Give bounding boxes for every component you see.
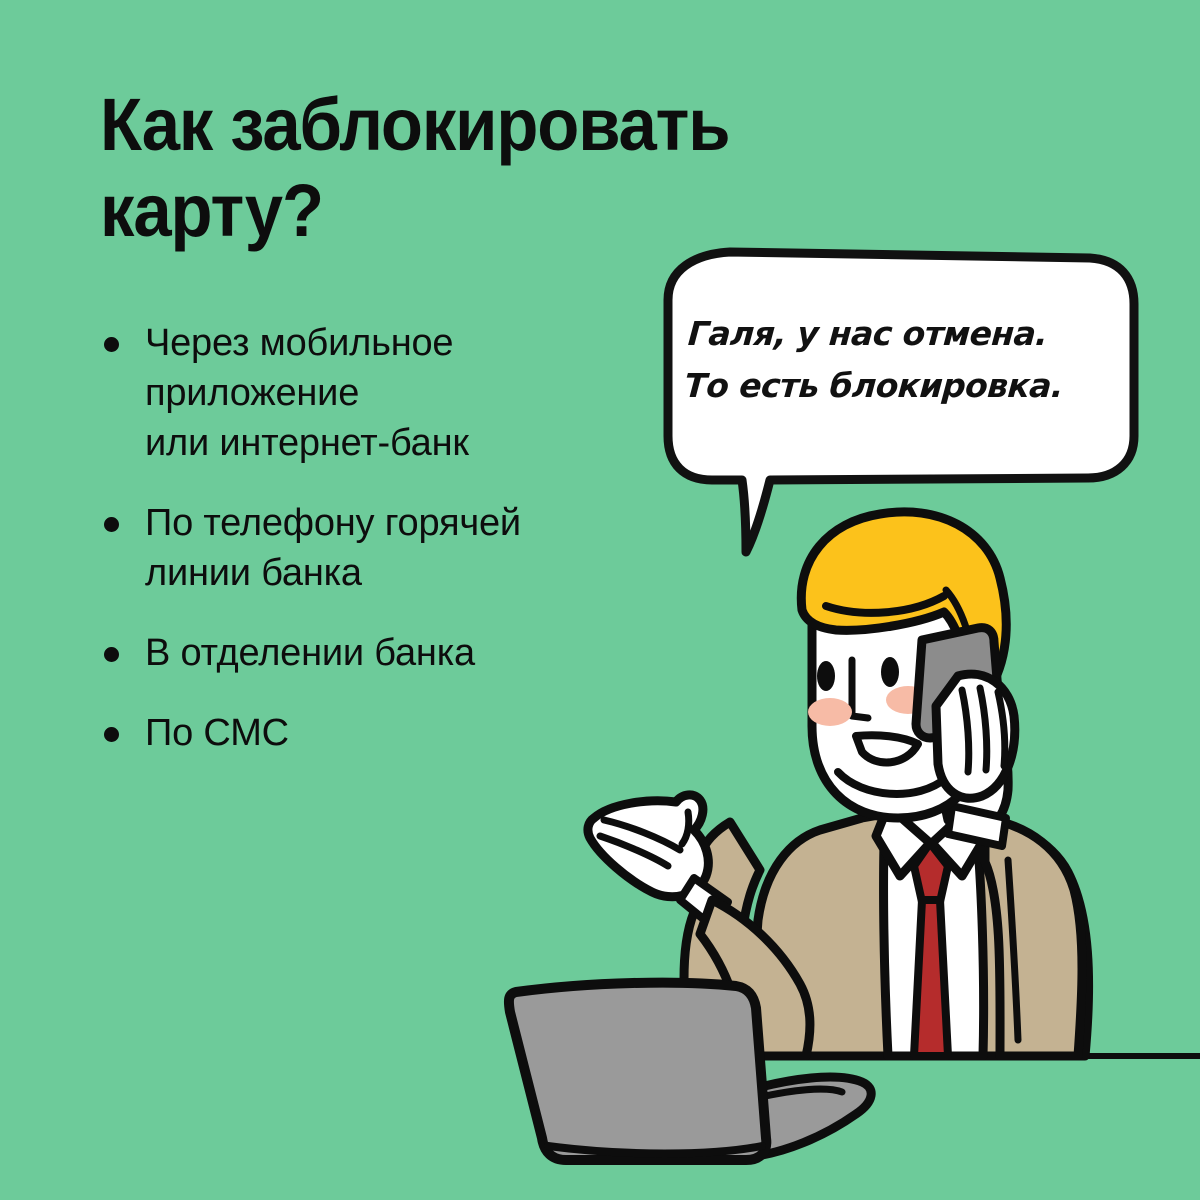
list-item: Через мобильное приложение или интернет-…: [104, 318, 664, 468]
list-item: По телефону горячей линии банка: [104, 498, 664, 598]
list-item-label: В отделении банка: [145, 628, 475, 678]
page-title: Как заблокировать карту?: [100, 82, 863, 254]
list-item-label: По СМС: [145, 708, 289, 758]
list-item-label: По телефону горячей линии банка: [145, 498, 521, 598]
speech-bubble: Галя, у нас отмена. То есть блокировка.: [650, 240, 1150, 570]
list-item-label: Через мобильное приложение или интернет-…: [145, 318, 469, 468]
bullet-dot-icon: [104, 517, 119, 532]
bullet-dot-icon: [104, 647, 119, 662]
bullet-dot-icon: [104, 337, 119, 352]
speech-bubble-text: Галя, у нас отмена. То есть блокировка.: [683, 308, 1120, 412]
poster-canvas: Как заблокировать карту? Через мобильное…: [0, 0, 1200, 1200]
method-list: Через мобильное приложение или интернет-…: [104, 318, 664, 788]
list-item: По СМС: [104, 708, 664, 758]
list-item: В отделении банка: [104, 628, 664, 678]
bullet-dot-icon: [104, 727, 119, 742]
